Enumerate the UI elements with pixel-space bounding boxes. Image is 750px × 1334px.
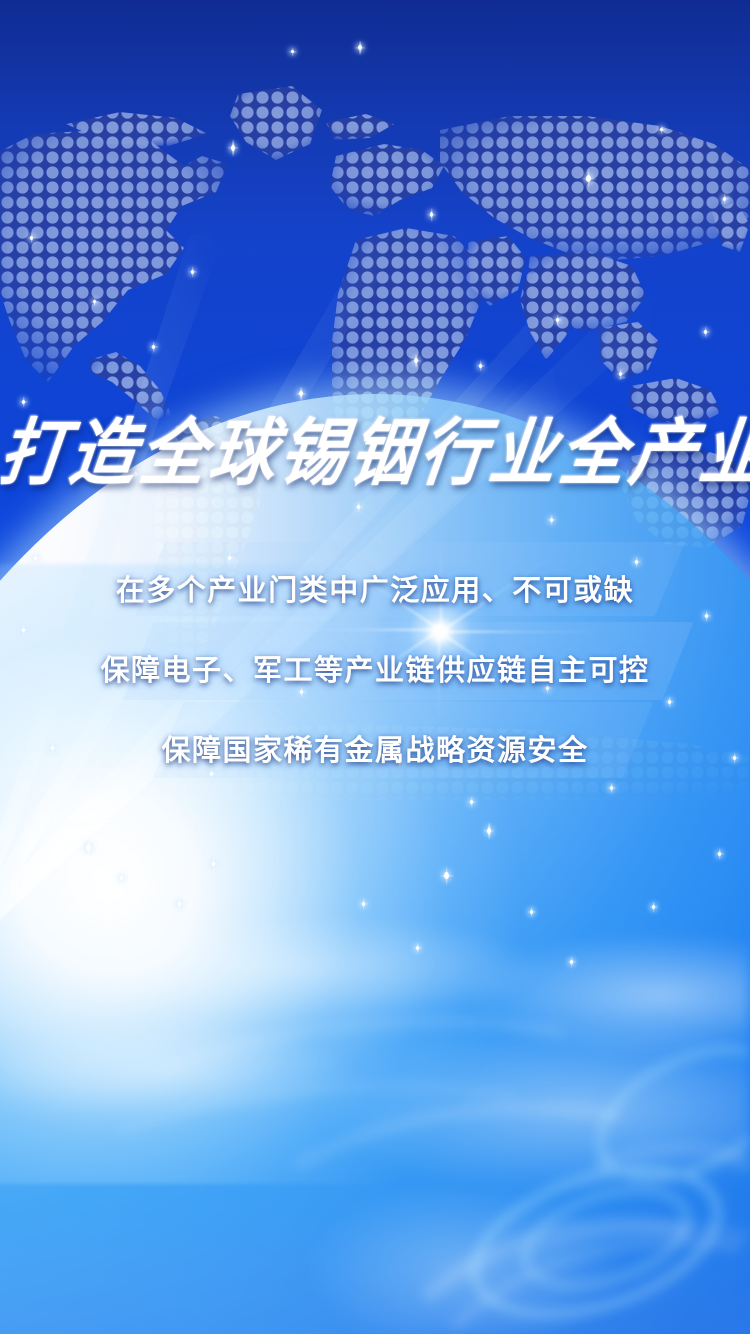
subtitle-text: 在多个产业门类中广泛应用、不可或缺 bbox=[116, 567, 635, 609]
page-title: 打造全球锡铟行业全产业链链主 bbox=[0, 410, 750, 500]
subtitle-text: 保障电子、军工等产业链供应链自主可控 bbox=[100, 647, 649, 689]
subtitle-line-3: 保障国家稀有金属战略资源安全 bbox=[0, 708, 750, 788]
subtitle-line-2: 保障电子、军工等产业链供应链自主可控 bbox=[0, 628, 750, 708]
subtitle-text: 保障国家稀有金属战略资源安全 bbox=[161, 727, 588, 769]
subtitle-line-1: 在多个产业门类中广泛应用、不可或缺 bbox=[0, 548, 750, 628]
subtitle-list: 在多个产业门类中广泛应用、不可或缺 保障电子、军工等产业链供应链自主可控 保障国… bbox=[0, 548, 750, 788]
poster-canvas: 打造全球锡铟行业全产业链链主 在多个产业门类中广泛应用、不可或缺 保障电子、军工… bbox=[0, 0, 750, 1334]
poster-content: 打造全球锡铟行业全产业链链主 在多个产业门类中广泛应用、不可或缺 保障电子、军工… bbox=[0, 0, 750, 1334]
